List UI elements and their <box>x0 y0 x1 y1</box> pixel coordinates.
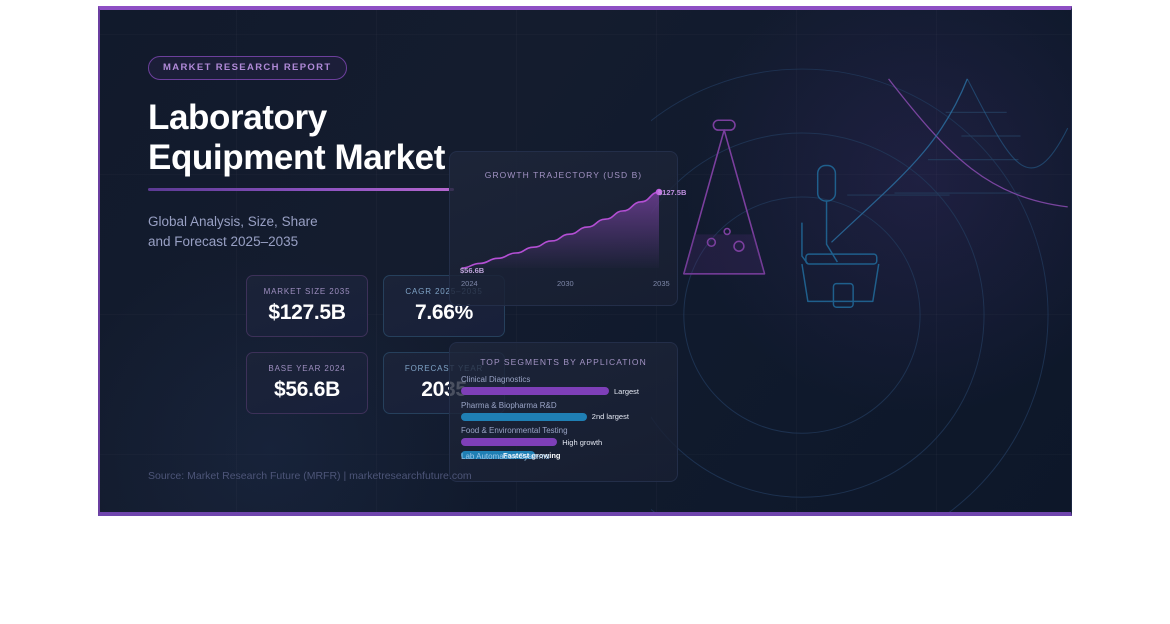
hero-card: MARKET RESEARCH REPORT Laboratory Equipm… <box>98 6 1072 516</box>
page-subtitle: Global Analysis, Size, Share and Forecas… <box>148 212 478 253</box>
segment-row: Food & Environmental TestingHigh growth <box>461 426 666 447</box>
segment-note: Largest <box>614 387 639 396</box>
microscope-icon <box>802 166 879 308</box>
segment-row: Lab Automation SystemsFastest growing <box>461 452 666 460</box>
lab-illustration <box>651 10 1071 512</box>
growth-chart-plot: $56.6B $127.5B 2024 2030 2035 <box>460 182 669 295</box>
chart-start-label: $56.6B <box>460 266 484 275</box>
report-badge: MARKET RESEARCH REPORT <box>148 56 347 80</box>
hero-text-column: MARKET RESEARCH REPORT Laboratory Equipm… <box>148 56 478 253</box>
segment-name: Food & Environmental Testing <box>461 426 666 435</box>
segment-name: Pharma & Biopharma R&D <box>461 401 666 410</box>
chart-end-label: $127.5B <box>658 188 686 197</box>
stat-label: BASE YEAR 2024 <box>268 364 345 373</box>
segment-bar <box>461 438 557 446</box>
stat-card-base-year: BASE YEAR 2024 $56.6B <box>246 352 368 414</box>
flask-icon <box>684 120 765 274</box>
title-underline <box>148 188 454 191</box>
title-line-2: Equipment Market <box>148 138 445 177</box>
stat-card-market-size: MARKET SIZE 2035 $127.5B <box>246 275 368 337</box>
title-line-1: Laboratory <box>148 98 327 137</box>
chart-xtick-2035: 2035 <box>653 279 670 288</box>
segment-row: Clinical DiagnosticsLargest <box>461 375 666 396</box>
segments-panel: TOP SEGMENTS BY APPLICATION Clinical Dia… <box>449 342 678 482</box>
segment-name: Lab Automation Systems <box>461 452 666 461</box>
chart-svg <box>460 182 669 274</box>
stat-label: MARKET SIZE 2035 <box>264 287 351 296</box>
segment-bar-track: 2nd largest <box>461 412 666 421</box>
chart-xtick-2024: 2024 <box>461 279 478 288</box>
growth-chart-panel: GROWTH TRAJECTORY (USD B) $56.6B $127.5B… <box>449 151 678 306</box>
stat-value: $127.5B <box>268 301 345 325</box>
page-title: Laboratory Equipment Market <box>148 98 478 179</box>
segment-note: High growth <box>562 438 602 447</box>
segment-row: Pharma & Biopharma R&D2nd largest <box>461 401 666 422</box>
subtitle-line-1: Global Analysis, Size, Share <box>148 214 318 229</box>
subtitle-line-2: and Forecast 2025–2035 <box>148 234 298 249</box>
segments-list: Clinical DiagnosticsLargestPharma & Biop… <box>461 375 666 465</box>
segment-note: 2nd largest <box>592 412 629 421</box>
glow-purple <box>660 6 1072 410</box>
stat-value: $56.6B <box>274 378 340 402</box>
chart-title: GROWTH TRAJECTORY (USD B) <box>450 152 677 180</box>
segment-bar-track: Largest <box>461 387 666 396</box>
segment-name: Clinical Diagnostics <box>461 375 666 384</box>
chart-xtick-2030: 2030 <box>557 279 574 288</box>
segment-bar <box>461 387 609 395</box>
source-attribution: Source: Market Research Future (MRFR) | … <box>148 470 472 482</box>
segment-bar-track: High growth <box>461 438 666 447</box>
segment-bar <box>461 413 587 421</box>
segments-title: TOP SEGMENTS BY APPLICATION <box>450 343 677 367</box>
